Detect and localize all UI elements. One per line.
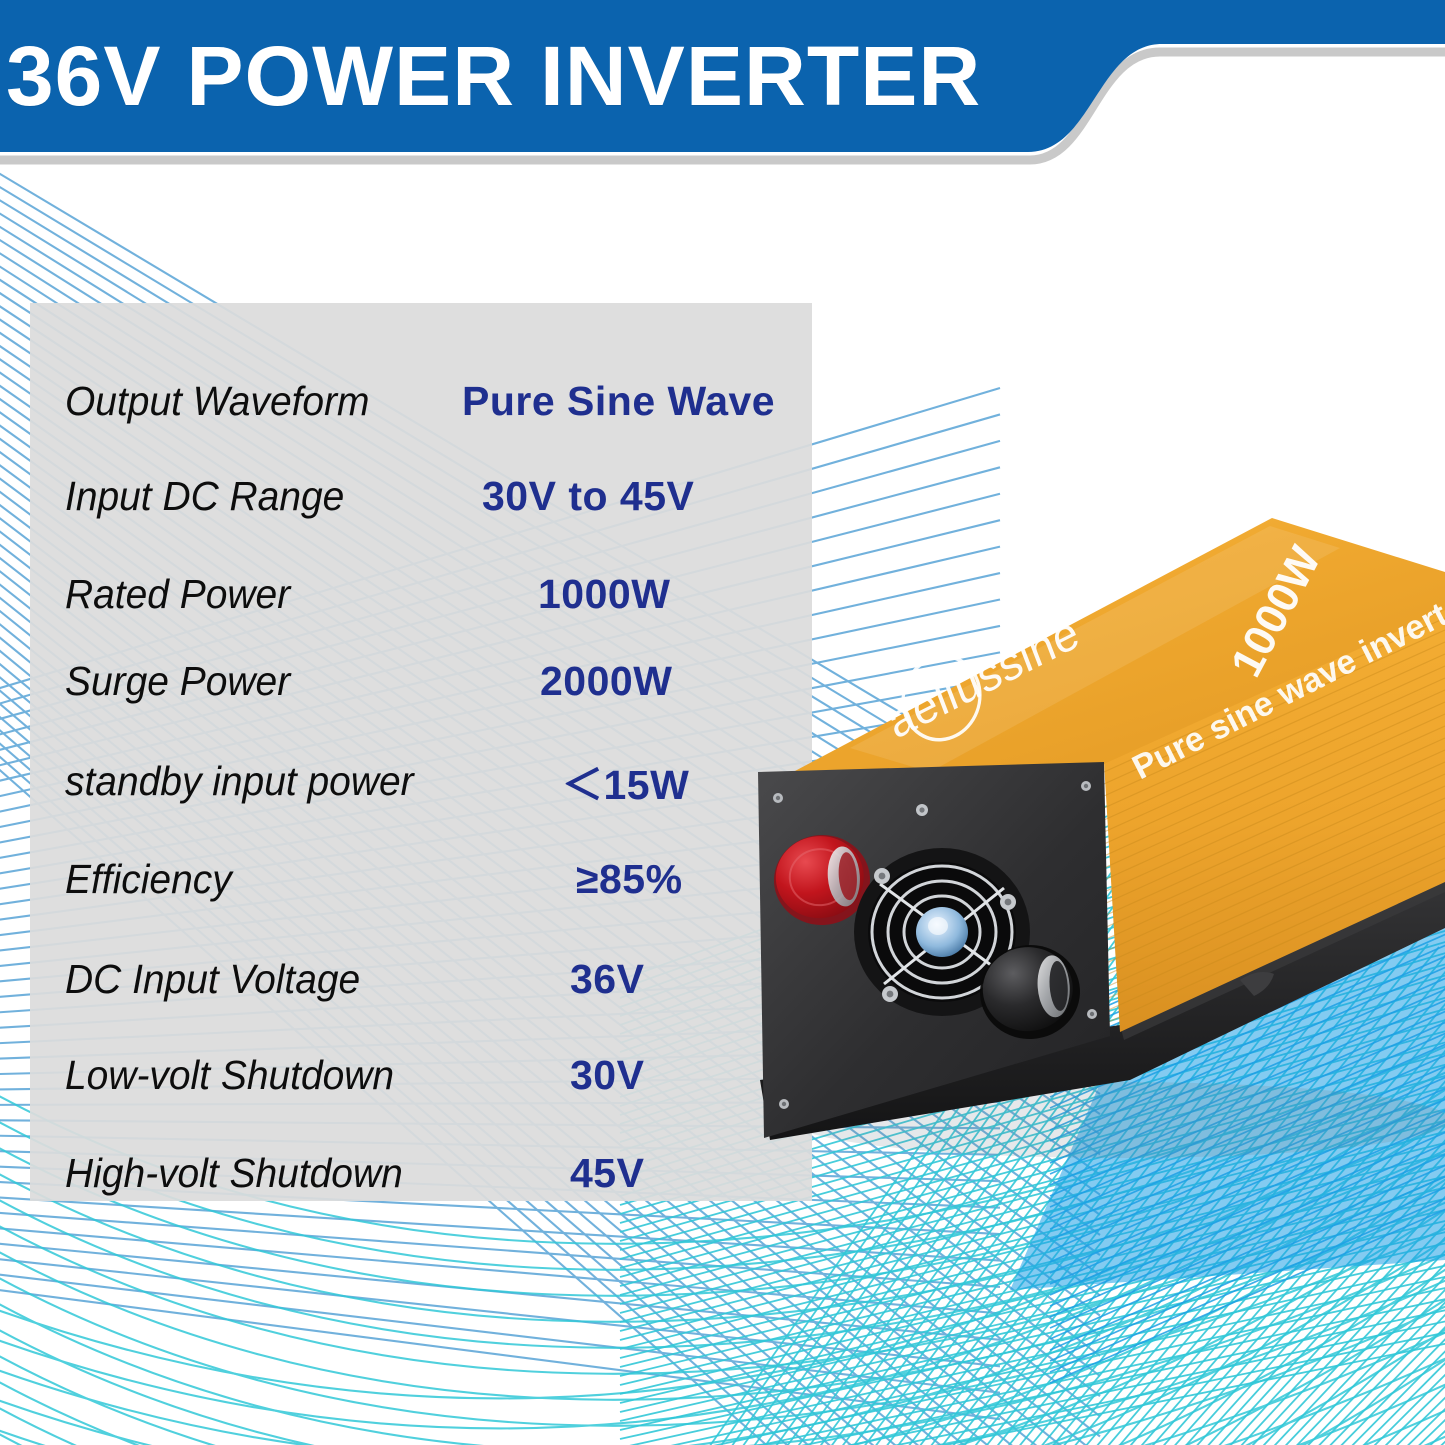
- spec-value: 1000W: [538, 571, 670, 618]
- spec-label: standby input power: [65, 758, 414, 805]
- spec-label: Input DC Range: [65, 473, 344, 520]
- header-banner: 36V POWER INVERTER: [0, 0, 1445, 165]
- spec-label: Surge Power: [65, 658, 290, 705]
- spec-label: Rated Power: [65, 571, 290, 618]
- spec-value: 45V: [570, 1150, 644, 1197]
- spec-value: 36V: [570, 956, 644, 1003]
- table-row: DC Input Voltage 36V: [30, 949, 812, 1009]
- table-row: standby input power ＜15W: [30, 751, 812, 811]
- table-row: Efficiency ≥85%: [30, 849, 812, 909]
- table-row: Surge Power 2000W: [30, 651, 812, 711]
- spec-label: Low-volt Shutdown: [65, 1052, 394, 1099]
- spec-label: DC Input Voltage: [65, 956, 360, 1003]
- table-row: High-volt Shutdown 45V: [30, 1143, 812, 1203]
- spec-value: 30V to 45V: [482, 473, 694, 520]
- specification-table: Output Waveform Pure Sine Wave Input DC …: [30, 303, 812, 1201]
- table-row: Output Waveform Pure Sine Wave: [30, 371, 812, 431]
- table-row: Rated Power 1000W: [30, 564, 812, 624]
- spec-label: Output Waveform: [65, 378, 370, 425]
- banner-title: 36V POWER INVERTER: [6, 28, 981, 125]
- spec-label: High-volt Shutdown: [65, 1150, 403, 1197]
- product-image-inverter: aeliussine 1000W Pure sine wave inverter: [700, 480, 1445, 1210]
- spec-value: 30V: [570, 1052, 644, 1099]
- spec-value: 2000W: [540, 658, 672, 705]
- table-row: Low-volt Shutdown 30V: [30, 1045, 812, 1105]
- spec-label: Efficiency: [65, 856, 232, 903]
- spec-value: ＜15W: [562, 751, 689, 811]
- panel-top-screw: [916, 804, 928, 816]
- infographic-canvas: 36V POWER INVERTER Output Waveform Pure …: [0, 0, 1445, 1445]
- spec-value: Pure Sine Wave: [462, 378, 775, 425]
- spec-value: ≥85%: [576, 856, 683, 903]
- table-row: Input DC Range 30V to 45V: [30, 466, 812, 526]
